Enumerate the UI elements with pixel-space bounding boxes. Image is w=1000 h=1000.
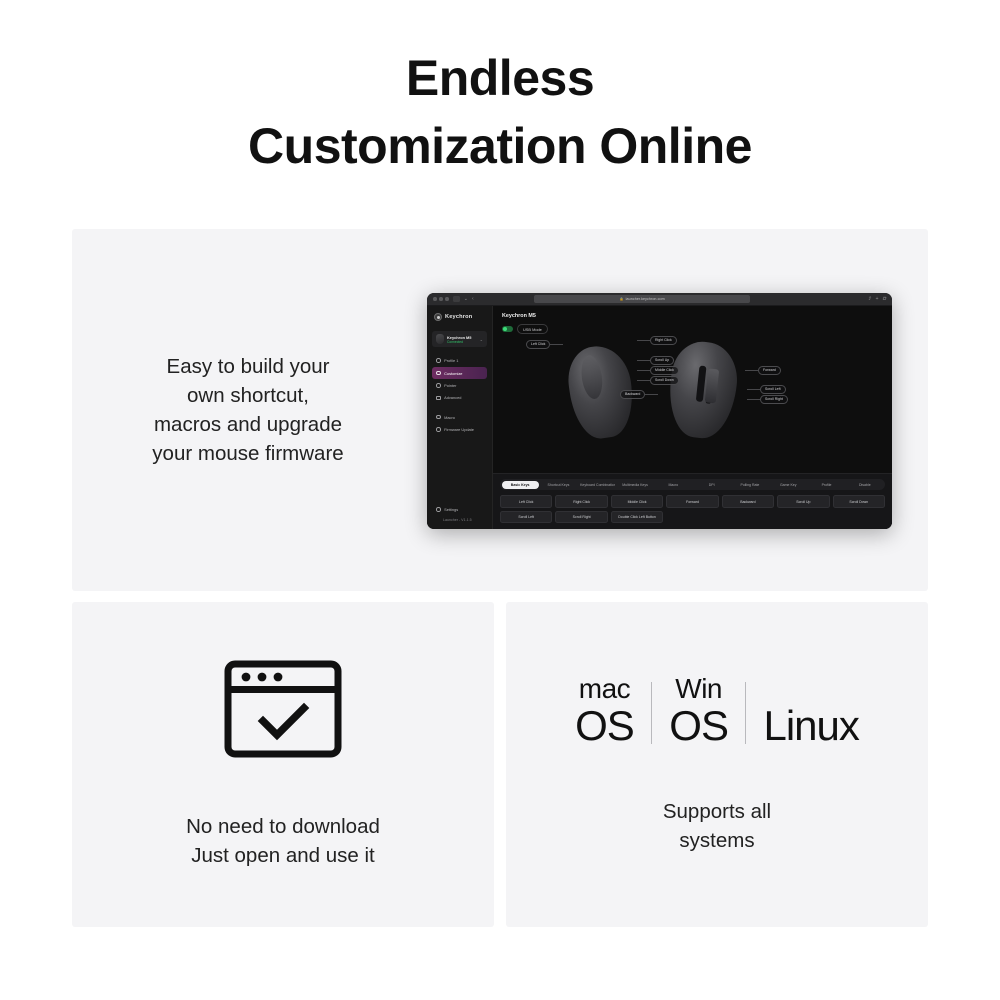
share-icon[interactable]: ⇧ [867,296,871,302]
gear-icon [436,507,441,512]
divider-icon [745,682,747,744]
mouse-render-right [665,339,741,441]
tab-macro[interactable]: Macro [655,481,692,489]
card-caption-line: Just open and use it [186,841,380,870]
pin-scroll-up[interactable]: Scroll Up [650,356,674,365]
os-linux-label: Linux [763,705,858,747]
app-sidebar: Keychron Keychron M5 Connected ⌄ [427,306,493,529]
sidebar-spacer [432,435,487,503]
card-text-line: your mouse firmware [94,439,402,468]
sidebar-item-firmware-update[interactable]: Firmware Update [432,424,487,435]
key-scroll-up[interactable]: Scroll Up [777,495,829,507]
os-logo-row: mac OS Win OS Linux [575,675,859,747]
key-right-click[interactable]: Right Click [555,495,607,507]
feature-cards: Easy to build your own shortcut, macros … [72,229,928,927]
os-macos: mac OS [575,675,634,747]
customize-icon [436,371,441,376]
os-linux: Linux [763,705,858,747]
device-thumbnail-icon [436,334,444,344]
sidebar-item-label: Profile 1 [444,358,458,363]
card-text-line: macros and upgrade [94,410,402,439]
key-forward[interactable]: Forward [666,495,718,507]
maximize-icon[interactable] [445,297,449,301]
pin-scroll-down[interactable]: Scroll Down [650,376,679,385]
main-title: Keychron M5 [502,313,884,319]
close-icon[interactable] [433,297,437,301]
keychron-launcher-screenshot: ⌄ ‹ 🔒 launcher.keychron.com ⇧ + ⧉ [427,293,892,529]
sidebar-divider [432,405,487,411]
pin-left-click[interactable]: Left Click [526,340,550,349]
sidebar-item-label: Firmware Update [444,427,474,432]
card-caption-line: No need to download [186,812,380,841]
sidebar-item-label: Customize [444,371,462,376]
pin-middle-click[interactable]: Middle Click [650,366,679,375]
os-macos-suffix: OS [575,705,634,747]
address-bar-url: launcher.keychron.com [626,297,665,301]
divider-icon [651,682,653,744]
feature-card-no-download: No need to download Just open and use it [72,602,494,927]
feature-card-customization-text: Easy to build your own shortcut, macros … [72,352,402,468]
app-brand: Keychron [432,313,487,321]
browser-window-check-icon [224,660,342,758]
pin-forward[interactable]: Forward [758,366,781,375]
os-winos: Win OS [669,675,728,747]
address-bar[interactable]: 🔒 launcher.keychron.com [534,295,750,303]
device-selector[interactable]: Keychron M5 Connected ⌄ [432,331,487,347]
pin-scroll-left[interactable]: Scroll Left [760,385,786,394]
feature-card-no-download-caption: No need to download Just open and use it [186,812,380,870]
card-caption-line: systems [663,826,771,855]
page-title: Endless Customization Online [0,0,1000,180]
tab-dpi[interactable]: DPI [693,481,730,489]
os-winos-suffix: OS [669,705,728,747]
feature-card-os-support: mac OS Win OS Linux Supports all systems [506,602,928,927]
profile-icon [436,358,441,363]
key-left-click[interactable]: Left Click [500,495,552,507]
device-status: Connected [447,340,463,344]
tab-keyboard-combination-key[interactable]: Keyboard Combination Key [578,481,615,489]
pin-backward[interactable]: Backward [620,390,645,399]
key-scroll-left[interactable]: Scroll Left [500,511,552,523]
key-grid: Left Click Right Click Middle Click Forw… [500,495,885,523]
advanced-icon [436,396,441,401]
tab-game-key[interactable]: Game Key [770,481,807,489]
launcher-version: Launcher - V1.1.5 [432,515,487,529]
macro-icon [436,415,441,420]
pin-right-click[interactable]: Right Click [650,336,677,345]
keychron-logo-icon [434,313,442,321]
page-title-line-1: Endless [0,44,1000,112]
key-assignment-panel: Basic Keys Shortcut Keys Keyboard Combin… [493,473,892,529]
tab-disable[interactable]: Disable [846,481,883,489]
key-double-click-left-button[interactable]: Double Click Left Button [611,511,663,523]
sidebar-item-label: Settings [444,507,458,512]
sidebar-toggle-icon[interactable] [453,296,460,302]
sidebar-item-advanced[interactable]: Advanced [432,392,487,403]
key-scroll-right[interactable]: Scroll Right [555,511,607,523]
os-winos-prefix: Win [675,675,722,703]
pointer-icon [436,383,441,388]
key-category-tabs: Basic Keys Shortcut Keys Keyboard Combin… [500,479,885,490]
sidebar-nav: Profile 1 Customize Pointer Advance [432,355,487,435]
sidebar-item-pointer[interactable]: Pointer [432,380,487,391]
usb-mode-label: USB Mode [517,324,548,334]
key-backward[interactable]: Backward [722,495,774,507]
sidebar-item-label: Macro [444,415,455,420]
key-middle-click[interactable]: Middle Click [611,495,663,507]
feature-card-customization: Easy to build your own shortcut, macros … [72,229,928,591]
browser-toolbar: ⌄ ‹ 🔒 launcher.keychron.com ⇧ + ⧉ [427,293,892,306]
sidebar-item-customize[interactable]: Customize [432,367,487,378]
pin-scroll-right[interactable]: Scroll Right [760,395,788,404]
tabs-icon[interactable]: ⧉ [882,296,886,302]
sidebar-item-profile-1[interactable]: Profile 1 [432,355,487,366]
card-caption-line: Supports all [663,797,771,826]
chevron-left-icon[interactable]: ‹ [472,297,474,302]
key-scroll-down[interactable]: Scroll Down [833,495,885,507]
sidebar-item-label: Advanced [444,395,461,400]
plus-icon[interactable]: + [876,296,879,302]
tab-shortcut-keys[interactable]: Shortcut Keys [540,481,577,489]
os-macos-prefix: mac [579,675,630,703]
sidebar-item-settings[interactable]: Settings [432,504,487,515]
feature-card-os-support-caption: Supports all systems [663,797,771,855]
firmware-icon [436,427,441,432]
chevron-down-icon[interactable]: ⌄ [464,297,468,302]
chevron-down-icon[interactable]: ⌄ [480,337,483,342]
window-traffic-lights[interactable] [433,297,449,301]
sidebar-item-label: Pointer [444,383,456,388]
device-name: Keychron M5 [447,335,471,340]
feature-cards-bottom-row: No need to download Just open and use it… [72,602,928,927]
usb-mode-toggle[interactable] [502,326,513,332]
page-title-line-2: Customization Online [0,112,1000,180]
tab-profile[interactable]: Profile [808,481,845,489]
device-meta: Keychron M5 Connected [447,335,477,344]
sidebar-item-macro[interactable]: Macro [432,412,487,423]
card-text-line: own shortcut, [94,381,402,410]
lock-icon: 🔒 [620,297,624,301]
browser-right-controls[interactable]: ⇧ + ⧉ [867,296,886,302]
minimize-icon[interactable] [439,297,443,301]
tab-polling-rate[interactable]: Polling Rate [731,481,768,489]
tab-basic-keys[interactable]: Basic Keys [502,481,539,489]
card-text-line: Easy to build your [94,352,402,381]
tab-multimedia-keys[interactable]: Multimedia Keys [616,481,653,489]
usb-mode-row: USB Mode [502,324,884,334]
brand-name: Keychron [445,314,472,320]
